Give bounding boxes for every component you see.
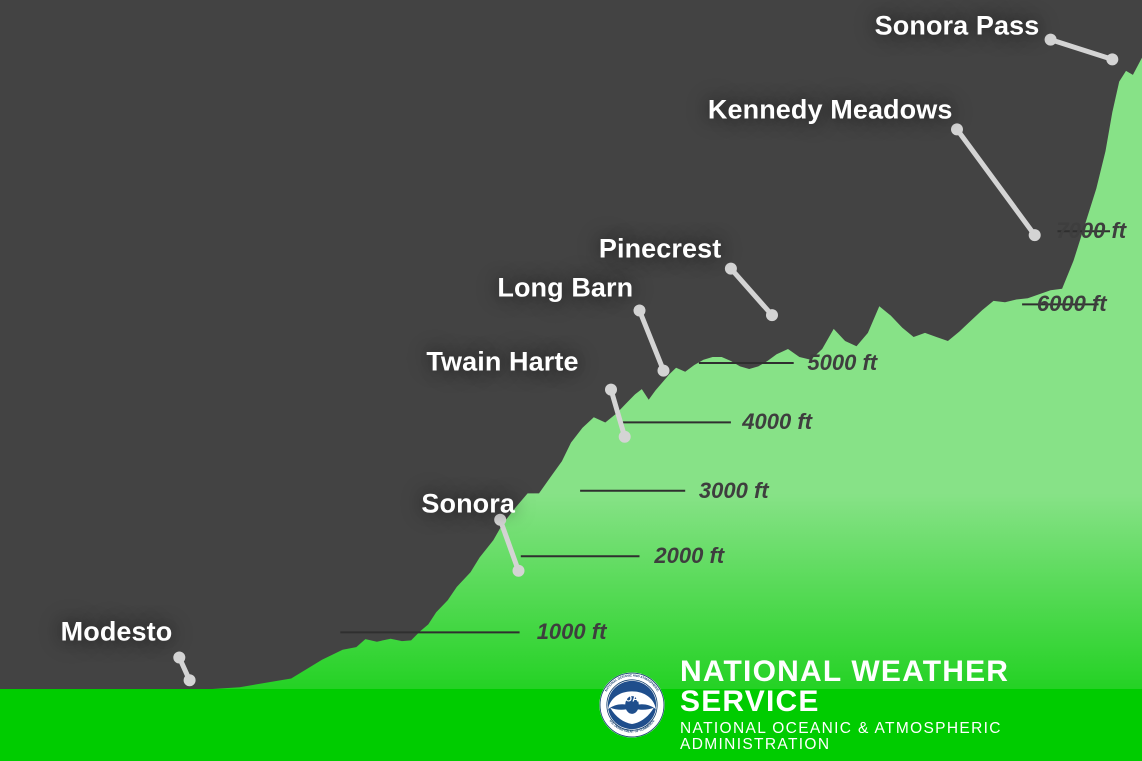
connector-dot-start-twain-harte [605, 384, 617, 396]
nws-text-block: NATIONAL WEATHER SERVICE NATIONAL OCEANI… [680, 657, 1142, 752]
connector-dot-end-kennedy-meadows [1029, 229, 1041, 241]
noaa-logo-text: NOAA [618, 693, 645, 703]
connector-dot-end-modesto [184, 674, 196, 686]
connector-dot-start-pinecrest [725, 263, 737, 275]
city-label-pinecrest[interactable]: Pinecrest [599, 233, 721, 264]
elevation-label-2000: 2000 ft [654, 543, 724, 569]
connector-dot-start-modesto [173, 652, 185, 664]
city-label-twain-harte[interactable]: Twain Harte [426, 347, 578, 378]
elevation-label-6000: 6000 ft [1037, 291, 1107, 317]
city-label-kennedy-meadows[interactable]: Kennedy Meadows [708, 95, 953, 126]
connector-dot-end-pinecrest [766, 309, 778, 321]
connector-dot-start-kennedy-meadows [951, 123, 963, 135]
connector-dot-end-sonora [513, 565, 525, 577]
elevation-label-5000: 5000 ft [807, 350, 877, 376]
elevation-profile-graphic: ModestoSonoraTwain HarteLong BarnPinecre… [0, 0, 1142, 761]
connector-dot-end-long-barn [658, 365, 670, 377]
elevation-label-3000: 3000 ft [699, 478, 769, 504]
agency-title: NATIONAL WEATHER SERVICE [680, 657, 1142, 717]
elevation-label-7000: 7000 ft [1056, 218, 1126, 244]
connector-dot-end-twain-harte [619, 431, 631, 443]
city-label-sonora-pass[interactable]: Sonora Pass [875, 10, 1040, 41]
connector-dot-end-sonora-pass [1106, 53, 1118, 65]
noaa-logo-icon: NOAA NATIONAL OCEANIC AND ATMOSPHERIC U.… [598, 671, 666, 739]
elevation-label-1000: 1000 ft [537, 619, 607, 645]
agency-subtitle: NATIONAL OCEANIC & ATMOSPHERIC ADMINISTR… [680, 721, 1142, 752]
connector-dot-start-long-barn [634, 305, 646, 317]
elevation-label-4000: 4000 ft [742, 409, 812, 435]
city-label-modesto[interactable]: Modesto [61, 617, 173, 648]
nws-branding: NOAA NATIONAL OCEANIC AND ATMOSPHERIC U.… [598, 657, 1142, 752]
city-label-long-barn[interactable]: Long Barn [497, 272, 633, 303]
connector-dot-start-sonora-pass [1045, 34, 1057, 46]
city-label-sonora[interactable]: Sonora [421, 488, 515, 519]
